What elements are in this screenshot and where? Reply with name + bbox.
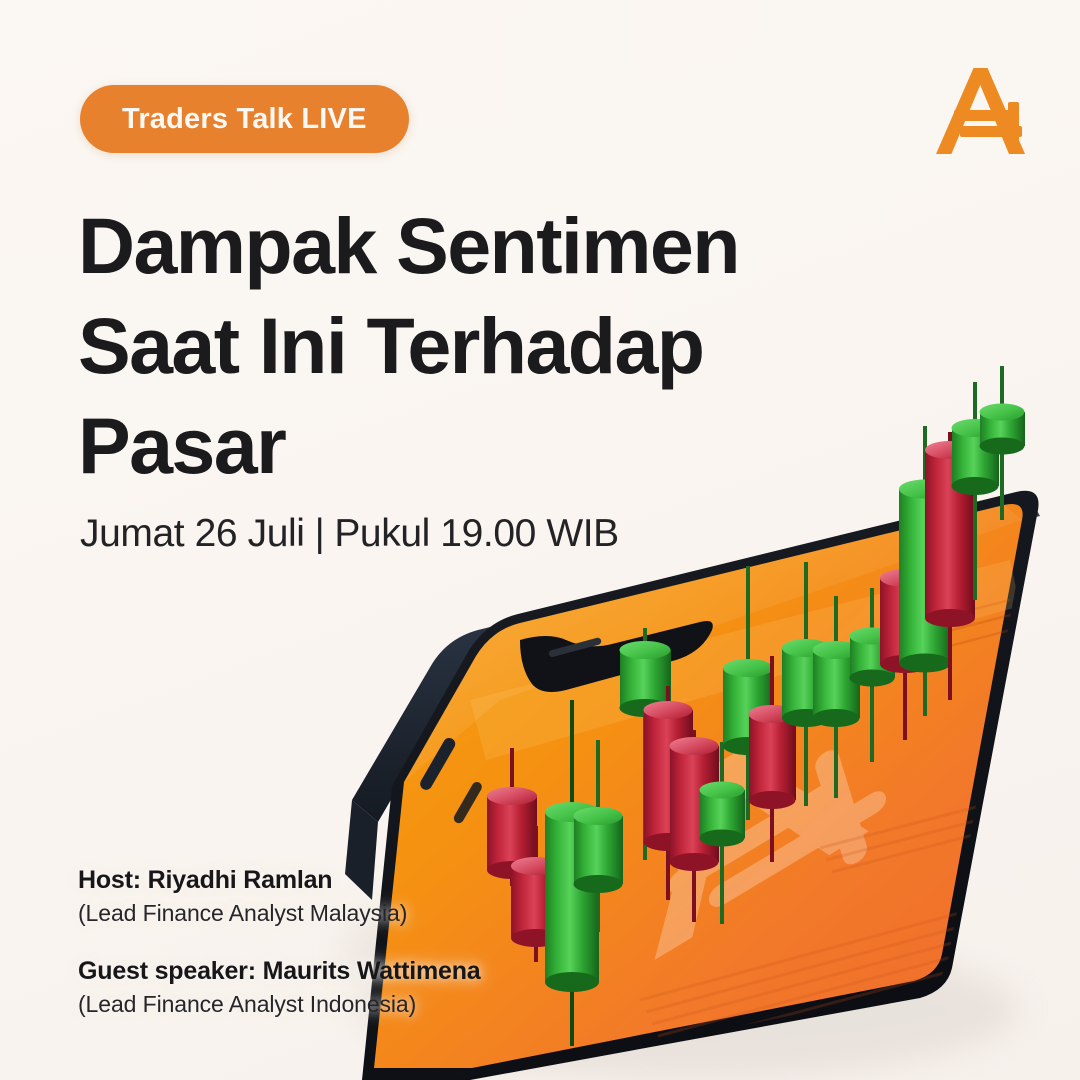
candle-bearish-2 bbox=[511, 826, 561, 962]
schedule-line: Jumat 26 Juli|Pukul 19.00 WIB bbox=[80, 512, 619, 556]
screen-stripes-right bbox=[900, 600, 1018, 656]
candle-bearish-7 bbox=[670, 730, 720, 922]
candle-bearish-6 bbox=[644, 686, 694, 900]
candle-bearish-16 bbox=[925, 432, 975, 700]
page-title-line-3: Pasar bbox=[78, 396, 838, 496]
candle-bearish-10 bbox=[749, 656, 797, 862]
host-role: (Lead Finance Analyst Malaysia) bbox=[78, 900, 481, 927]
schedule-date: Jumat 26 Juli bbox=[80, 512, 305, 555]
candle-bullish-11 bbox=[782, 562, 830, 806]
page-title: Dampak Sentimen Saat Ini Terhadap Pasar bbox=[78, 196, 838, 496]
speakers-block: Host: Riyadhi Ramlan (Lead Finance Analy… bbox=[78, 866, 481, 1048]
guest-speaker-role: (Lead Finance Analyst Indonesia) bbox=[78, 991, 481, 1018]
candle-bullish-13 bbox=[850, 588, 896, 762]
schedule-time: Pukul 19.00 WIB bbox=[334, 512, 618, 555]
guest-speaker-block: Guest speaker: Maurits Wattimena (Lead F… bbox=[78, 957, 481, 1018]
live-badge-label: Traders Talk LIVE bbox=[122, 103, 367, 136]
candle-bullish-8 bbox=[700, 742, 746, 924]
poster-canvas: Traders Talk LIVE Dampak Sentimen Saat I… bbox=[0, 0, 1080, 1080]
candle-bearish-14 bbox=[880, 512, 930, 740]
host-name: Host: Riyadhi Ramlan bbox=[78, 866, 481, 895]
candle-bullish-4 bbox=[574, 740, 624, 932]
candle-bullish-17 bbox=[952, 382, 1000, 600]
host-block: Host: Riyadhi Ramlan (Lead Finance Analy… bbox=[78, 866, 481, 927]
screen-logo-watermark bbox=[613, 683, 898, 980]
page-title-line-2: Saat Ini Terhadap bbox=[78, 296, 838, 396]
live-badge[interactable]: Traders Talk LIVE bbox=[80, 85, 409, 153]
candle-bullish-9 bbox=[723, 566, 773, 820]
guest-speaker-name: Guest speaker: Maurits Wattimena bbox=[78, 957, 481, 986]
schedule-separator: | bbox=[305, 512, 335, 555]
candle-bullish-15 bbox=[899, 426, 951, 716]
candle-bullish-18 bbox=[980, 366, 1026, 520]
page-title-line-1: Dampak Sentimen bbox=[78, 196, 838, 296]
candle-bullish-12 bbox=[813, 596, 861, 798]
phone-screen-content bbox=[404, 505, 1022, 1048]
screen-stripes bbox=[640, 806, 1000, 1048]
candle-bullish-3 bbox=[545, 700, 599, 1046]
brand-logo-icon bbox=[932, 62, 1038, 162]
candle-bullish-5 bbox=[620, 628, 672, 860]
candle-bearish-1 bbox=[487, 748, 537, 886]
